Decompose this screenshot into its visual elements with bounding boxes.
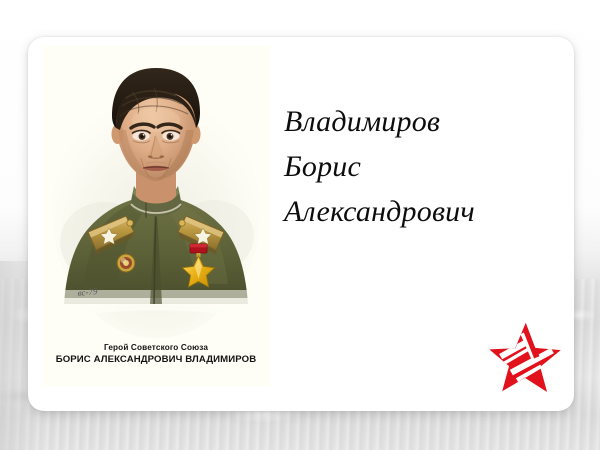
name-line-firstname: Борис xyxy=(284,144,562,189)
portrait-illustration: вс-79 xyxy=(42,46,270,352)
caption-honor-title: Герой Советского Союза xyxy=(42,342,270,353)
red-star-icon xyxy=(487,319,563,395)
portrait-image: вс-79 Герой Советского Союза БОРИС АЛЕКС… xyxy=(42,46,270,386)
artist-signature: вс-79 xyxy=(77,286,98,298)
name-line-surname: Владимиров xyxy=(284,99,562,144)
name-line-patronymic: Александрович xyxy=(284,189,562,234)
portrait-caption: Герой Советского Союза БОРИС АЛЕКСАНДРОВ… xyxy=(42,342,270,366)
red-star-glyph xyxy=(487,319,563,395)
slide-canvas: вс-79 Герой Советского Союза БОРИС АЛЕКС… xyxy=(0,0,600,450)
caption-full-name: БОРИС АЛЕКСАНДРОВИЧ ВЛАДИМИРОВ xyxy=(42,353,270,366)
content-card: вс-79 Герой Советского Союза БОРИС АЛЕКС… xyxy=(28,37,574,411)
page-title: Владимиров Борис Александрович xyxy=(284,99,562,234)
